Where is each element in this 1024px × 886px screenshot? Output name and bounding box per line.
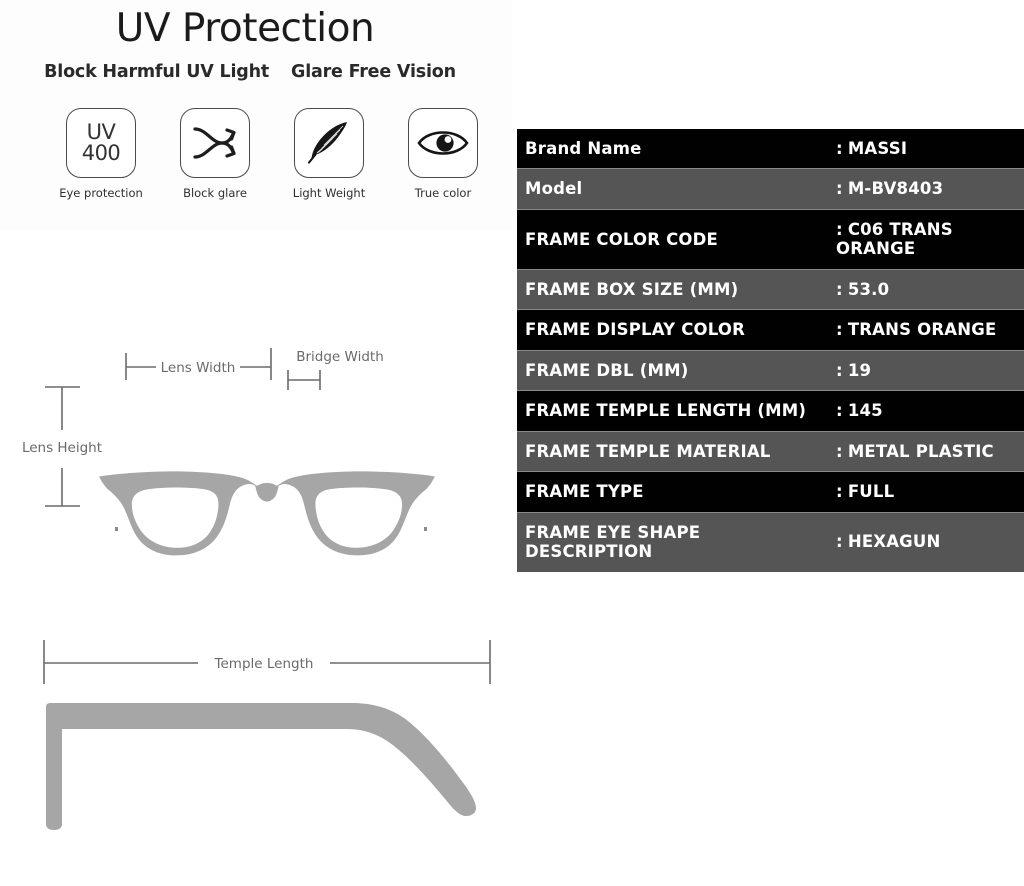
spec-value-text: HEXAGUN (848, 532, 941, 551)
uv-protection-banner: UV Protection Block Harmful UV Light Gla… (0, 0, 512, 230)
table-row: FRAME TEMPLE LENGTH (MM) :145 (517, 391, 1024, 431)
uv-protection-subtitles: Block Harmful UV Light Glare Free Vision (0, 62, 500, 82)
spec-value-text: FULL (848, 482, 895, 501)
feature-caption-light-weight: Light Weight (293, 186, 365, 200)
subtitle-glare-free-vision: Glare Free Vision (291, 62, 456, 82)
spec-value-text: 145 (848, 401, 883, 420)
spec-value-text: M-BV8403 (848, 179, 943, 198)
lens-width-label: Lens Width (161, 360, 236, 376)
spec-value-frame-type: :FULL (830, 472, 1024, 512)
feature-caption-true-color: True color (415, 186, 471, 200)
colon-separator: : (836, 532, 848, 551)
temple-arm-silhouette (46, 703, 476, 830)
colon-separator: : (836, 442, 848, 461)
bridge-width-dimension-line (288, 370, 320, 390)
table-row: FRAME BOX SIZE (MM) :53.0 (517, 269, 1024, 309)
feather-icon (294, 108, 364, 178)
colon-separator: : (836, 139, 848, 158)
block-glare-icon (180, 108, 250, 178)
colon-separator: : (836, 482, 848, 501)
colon-separator: : (836, 179, 848, 198)
bridge-width-label: Bridge Width (296, 349, 384, 365)
feature-icon-row: UV 400 Eye protection (52, 108, 492, 200)
spec-label-frame-display-color: FRAME DISPLAY COLOR (517, 310, 830, 350)
colon-separator: : (836, 401, 848, 420)
spec-label-frame-eye-shape-description: FRAME EYE SHAPE DESCRIPTION (517, 512, 830, 571)
crossed-arrows-glyph (190, 119, 240, 167)
uv400-badge-top: UV (82, 122, 121, 143)
colon-separator: : (836, 320, 848, 339)
spec-value-frame-display-color: :TRANS ORANGE (830, 310, 1024, 350)
feature-caption-block-glare: Block glare (183, 186, 247, 200)
spec-value-brand-name: :MASSI (830, 129, 1024, 169)
glasses-frame-silhouette (99, 471, 435, 555)
colon-separator: : (836, 361, 848, 380)
spec-label-model: Model (517, 169, 830, 209)
spec-value-frame-temple-length: :145 (830, 391, 1024, 431)
glasses-front-measurement-diagram: Lens Width Bridge Width Lens Height (0, 318, 512, 578)
lens-height-label: Lens Height (22, 440, 102, 456)
table-row: FRAME DISPLAY COLOR :TRANS ORANGE (517, 310, 1024, 350)
left-illustration-panel: UV Protection Block Harmful UV Light Gla… (0, 0, 512, 886)
spec-label-brand-name: Brand Name (517, 129, 830, 169)
spec-value-frame-color-code: :C06 TRANS ORANGE (830, 209, 1024, 269)
eye-icon (408, 108, 478, 178)
table-row: FRAME COLOR CODE :C06 TRANS ORANGE (517, 209, 1024, 269)
colon-separator: : (836, 220, 848, 239)
spec-label-frame-box-size: FRAME BOX SIZE (MM) (517, 269, 830, 309)
feature-caption-eye-protection: Eye protection (59, 186, 143, 200)
uv400-badge-bottom: 400 (82, 143, 121, 164)
feature-true-color: True color (394, 108, 492, 200)
spec-value-text: C06 TRANS ORANGE (836, 220, 953, 258)
spec-label-frame-type: FRAME TYPE (517, 472, 830, 512)
spec-value-frame-temple-material: :METAL PLASTIC (830, 431, 1024, 471)
temple-length-label: Temple Length (214, 656, 314, 672)
product-spec-table: Brand Name :MASSI Model :M-BV8403 FRAME … (517, 129, 1024, 572)
feature-block-glare: Block glare (166, 108, 264, 200)
spec-value-text: 19 (848, 361, 871, 380)
table-row: FRAME TEMPLE MATERIAL :METAL PLASTIC (517, 431, 1024, 471)
feather-glyph (303, 117, 355, 169)
colon-separator: : (836, 280, 848, 299)
table-row: FRAME EYE SHAPE DESCRIPTION :HEXAGUN (517, 512, 1024, 571)
spec-value-frame-box-size: :53.0 (830, 269, 1024, 309)
glasses-temple-measurement-diagram: Temple Length (0, 622, 512, 862)
spec-label-frame-temple-material: FRAME TEMPLE MATERIAL (517, 431, 830, 471)
spec-value-text: 53.0 (848, 280, 890, 299)
spec-value-frame-dbl: :19 (830, 350, 1024, 390)
spec-value-frame-eye-shape-description: :HEXAGUN (830, 512, 1024, 571)
table-row: FRAME TYPE :FULL (517, 472, 1024, 512)
subtitle-block-harmful-uv-light: Block Harmful UV Light (44, 62, 269, 82)
spec-label-frame-dbl: FRAME DBL (MM) (517, 350, 830, 390)
table-row: FRAME DBL (MM) :19 (517, 350, 1024, 390)
feature-light-weight: Light Weight (280, 108, 378, 200)
uv-protection-title: UV Protection (0, 6, 490, 52)
table-row: Brand Name :MASSI (517, 129, 1024, 169)
feature-eye-protection: UV 400 Eye protection (52, 108, 150, 200)
spec-value-model: :M-BV8403 (830, 169, 1024, 209)
frame-tick-right (424, 527, 427, 531)
frame-tick-left (115, 527, 118, 531)
spec-label-frame-temple-length: FRAME TEMPLE LENGTH (MM) (517, 391, 830, 431)
table-row: Model :M-BV8403 (517, 169, 1024, 209)
spec-value-text: TRANS ORANGE (848, 320, 997, 339)
spec-label-frame-color-code: FRAME COLOR CODE (517, 209, 830, 269)
spec-value-text: METAL PLASTIC (848, 442, 994, 461)
eye-glyph (416, 125, 470, 161)
uv400-icon: UV 400 (66, 108, 136, 178)
spec-value-text: MASSI (848, 139, 907, 158)
